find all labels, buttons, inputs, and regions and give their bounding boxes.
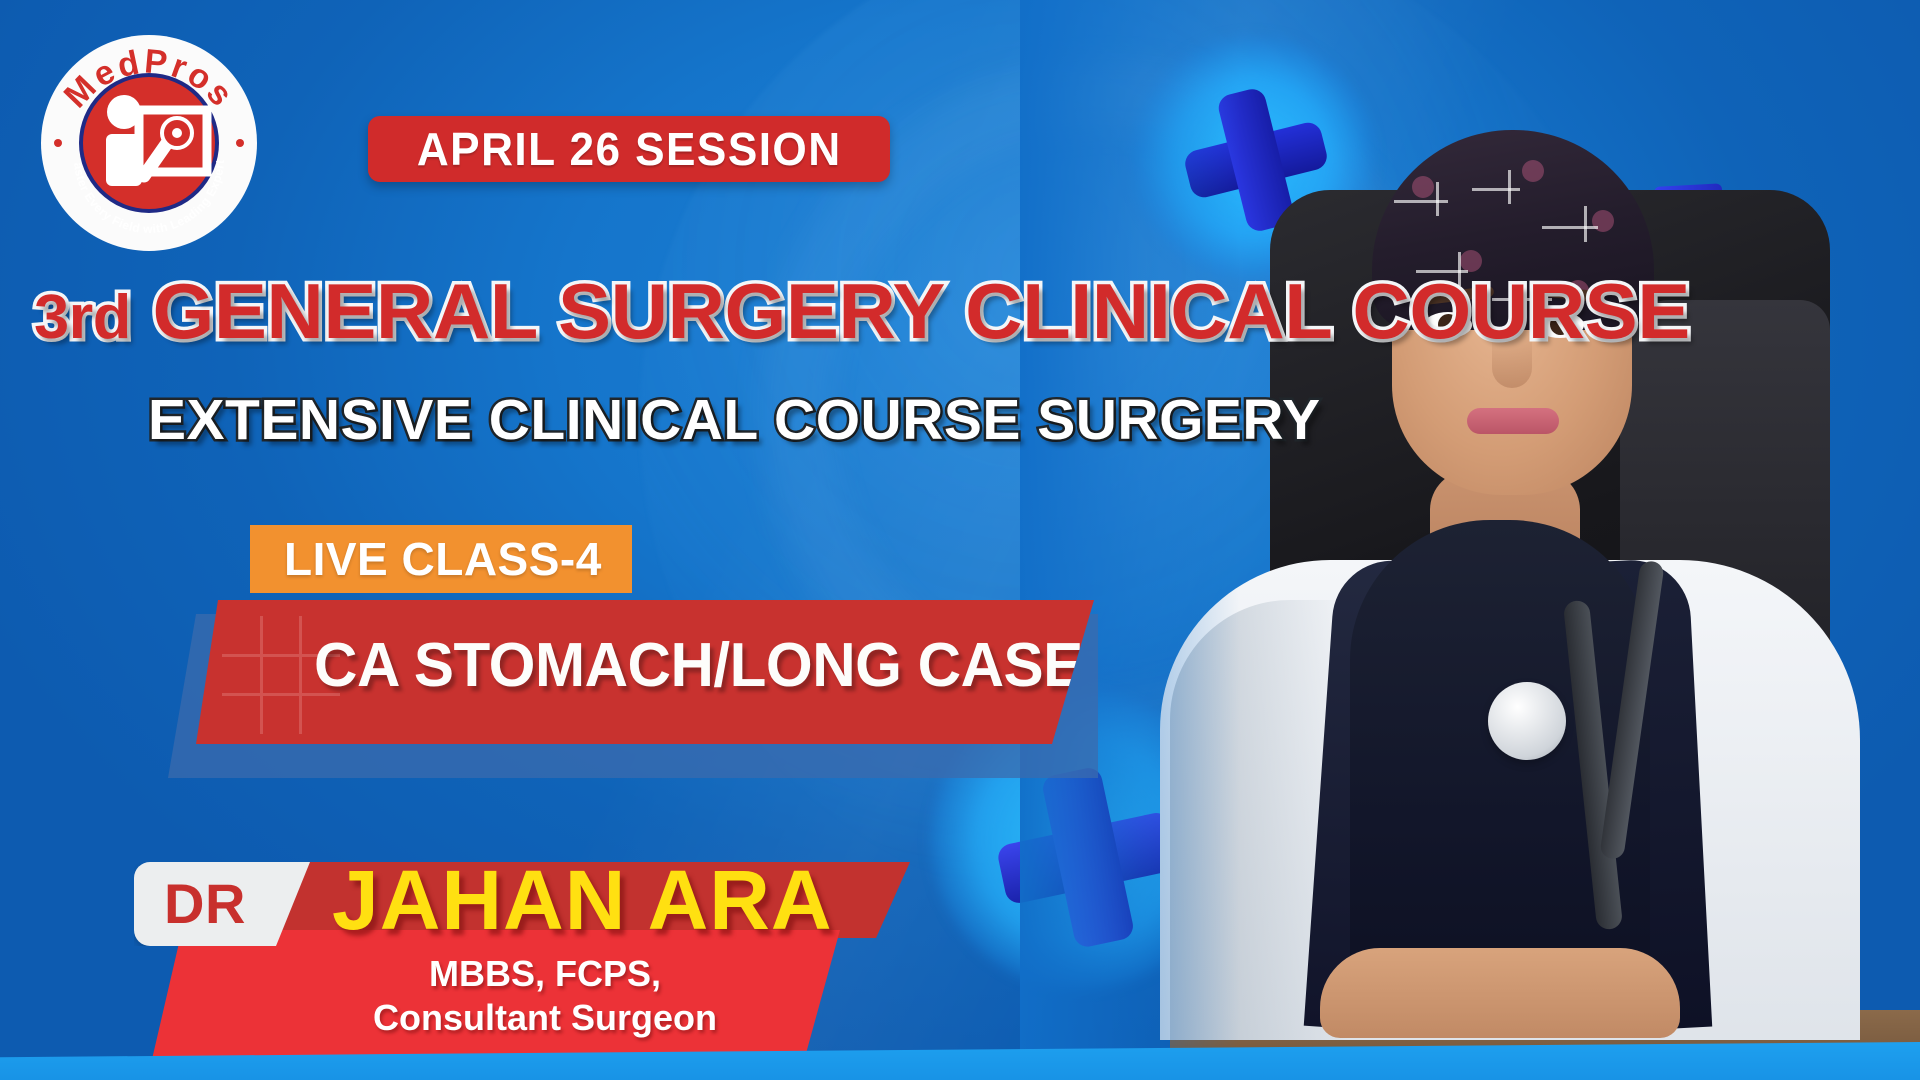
medpros-logo[interactable]: MedPros Master Every Field with Leading … (36, 30, 262, 256)
course-title: 3rd GENERAL SURGERY CLINICAL COURSE (34, 272, 1380, 350)
topic-label: CA STOMACH/LONG CASE+SHORT CASE (314, 630, 1094, 701)
stethoscope-chestpiece (1488, 682, 1566, 760)
presenter-title-prefix: DR (164, 876, 246, 932)
presenter-name: JAHAN ARA (332, 858, 833, 942)
hands (1320, 948, 1680, 1038)
live-class-badge: LIVE CLASS-4 (250, 525, 632, 593)
date-badge: APRIL 26 SESSION (368, 116, 890, 182)
presenter-credentials-line2: Consultant Surgeon (310, 996, 780, 1040)
date-badge-label: APRIL 26 SESSION (417, 122, 842, 176)
topic-banner: CA STOMACH/LONG CASE+SHORT CASE (196, 600, 1094, 744)
presenter-credentials: MBBS, FCPS, Consultant Surgeon (310, 952, 780, 1040)
course-title-ordinal: 3rd (34, 283, 131, 352)
promo-banner: MedPros Master Every Field with Leading … (0, 0, 1920, 1080)
presenter-photo (1020, 0, 1920, 1080)
live-class-label: LIVE CLASS-4 (284, 532, 602, 586)
course-subtitle: EXTENSIVE CLINICAL COURSE SURGERY (148, 392, 1328, 449)
presenter-credentials-line1: MBBS, FCPS, (310, 952, 780, 996)
lips (1467, 408, 1559, 434)
course-title-text: GENERAL SURGERY CLINICAL COURSE (152, 267, 1689, 355)
photo-edge-fade (1020, 0, 1240, 1080)
